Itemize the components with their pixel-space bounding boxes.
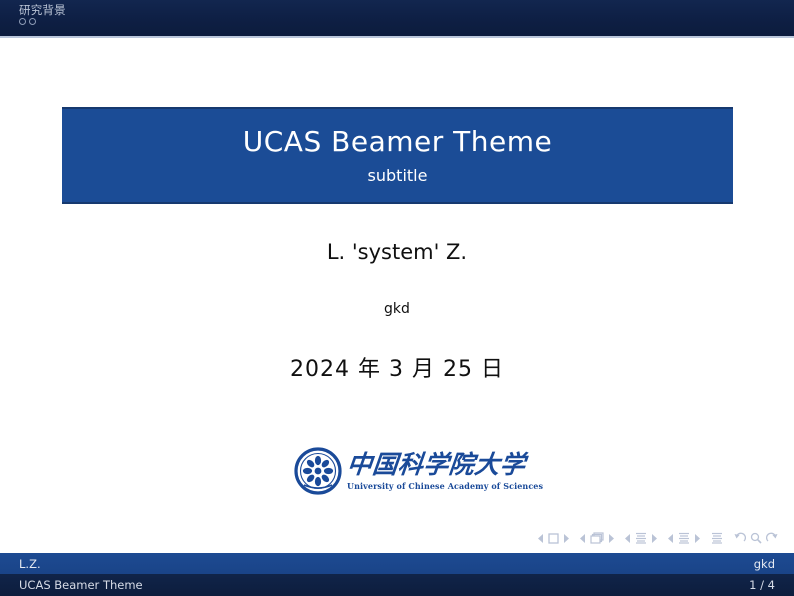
beamer-navigation-symbols[interactable] (538, 530, 778, 546)
forward-icon[interactable] (766, 532, 778, 544)
find-icon[interactable] (750, 532, 762, 544)
page-title: UCAS Beamer Theme (243, 126, 552, 158)
frame-current-icon[interactable] (590, 532, 604, 544)
section-prev-icon[interactable] (668, 534, 674, 543)
ucas-emblem-icon (294, 447, 342, 495)
minitoc-dot-2[interactable] (29, 18, 36, 25)
subsection-navigation-group[interactable] (625, 532, 657, 544)
subsection-next-icon[interactable] (651, 534, 657, 543)
slide-next-icon[interactable] (563, 534, 569, 543)
slide-navigation-group[interactable] (538, 533, 569, 544)
ucas-logo-text: 中国科学院大学 University of Chinese Academy of… (347, 452, 543, 491)
presentation-date: 2024 年 3 月 25 日 (0, 351, 794, 383)
history-navigation-group[interactable] (734, 532, 778, 544)
frame-prev-icon[interactable] (580, 534, 586, 543)
page-subtitle: subtitle (368, 166, 428, 185)
ucas-logo-english: University of Chinese Academy of Science… (347, 481, 543, 491)
title-block: UCAS Beamer Theme subtitle (62, 107, 733, 204)
subsection-prev-icon[interactable] (625, 534, 631, 543)
slide-prev-icon[interactable] (538, 534, 544, 543)
section-current-icon[interactable] (678, 532, 690, 544)
appendix-icon[interactable] (711, 532, 723, 544)
subsection-current-icon[interactable] (635, 532, 647, 544)
footer-institute: gkd (754, 557, 775, 571)
author-name: L. 'system' Z. (0, 240, 794, 264)
header-underline (0, 36, 794, 38)
section-next-icon[interactable] (694, 534, 700, 543)
footer-bottom-bar: UCAS Beamer Theme 1 / 4 (0, 574, 794, 596)
section-navigation-group[interactable] (668, 532, 700, 544)
footer-top-bar: L.Z. gkd (0, 553, 794, 574)
institute-name: gkd (0, 301, 794, 317)
footer-title: UCAS Beamer Theme (19, 578, 143, 592)
ucas-logo: 中国科学院大学 University of Chinese Academy of… (294, 443, 504, 499)
footer-author: L.Z. (19, 557, 41, 571)
minitoc-dot-1[interactable] (19, 18, 26, 25)
slide-current-icon[interactable] (548, 533, 559, 544)
ucas-logo-chinese: 中国科学院大学 (346, 452, 545, 477)
footer-page-number: 1 / 4 (749, 578, 775, 592)
minitoc-navigation[interactable] (19, 18, 36, 25)
frame-next-icon[interactable] (608, 534, 614, 543)
frame-navigation-group[interactable] (580, 532, 614, 544)
header-bar (0, 0, 794, 36)
back-icon[interactable] (734, 532, 746, 544)
section-title: 研究背景 (19, 2, 66, 18)
